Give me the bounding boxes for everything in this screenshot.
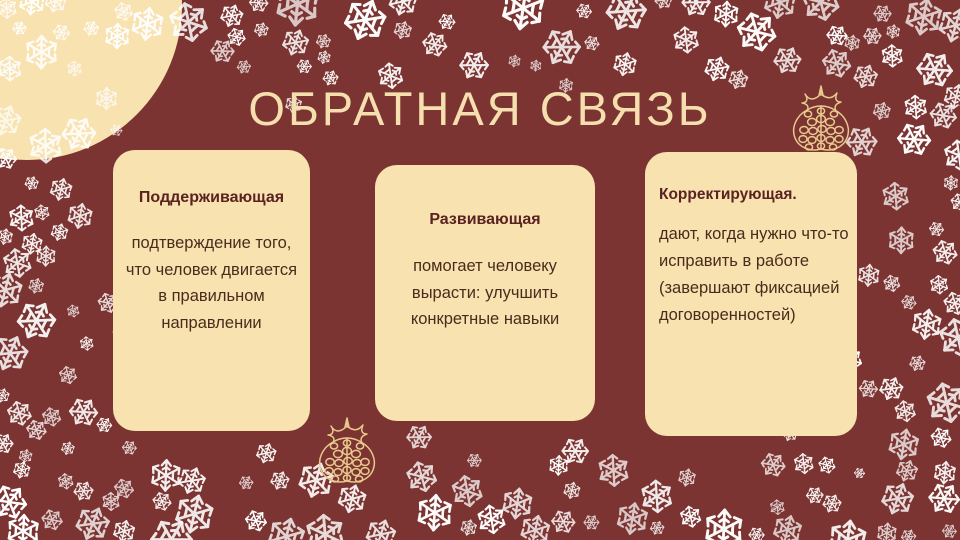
pomegranate-icon (304, 404, 390, 495)
card-body: дают, когда нужно что-то исправить в раб… (659, 221, 857, 328)
cream-circle-decoration (0, 0, 182, 160)
card-body: подтверждение того, что человек двигаетс… (123, 230, 300, 337)
feedback-card-corrective: Корректирующая. дают, когда нужно что-то… (645, 152, 857, 436)
slide-canvas: ОБРАТНАЯ СВЯЗЬ Поддерживающая подтвержде… (0, 0, 960, 540)
feedback-card-supportive: Поддерживающая подтверждение того, что ч… (113, 150, 310, 431)
card-heading: Развивающая (389, 210, 581, 230)
card-heading: Поддерживающая (123, 188, 300, 208)
page-title: ОБРАТНАЯ СВЯЗЬ (0, 85, 960, 132)
card-body: помогает человеку вырасти: улучшить конк… (389, 253, 581, 333)
feedback-card-developmental: Развивающая помогает человеку вырасти: у… (375, 165, 595, 421)
card-heading: Корректирующая. (659, 185, 857, 204)
